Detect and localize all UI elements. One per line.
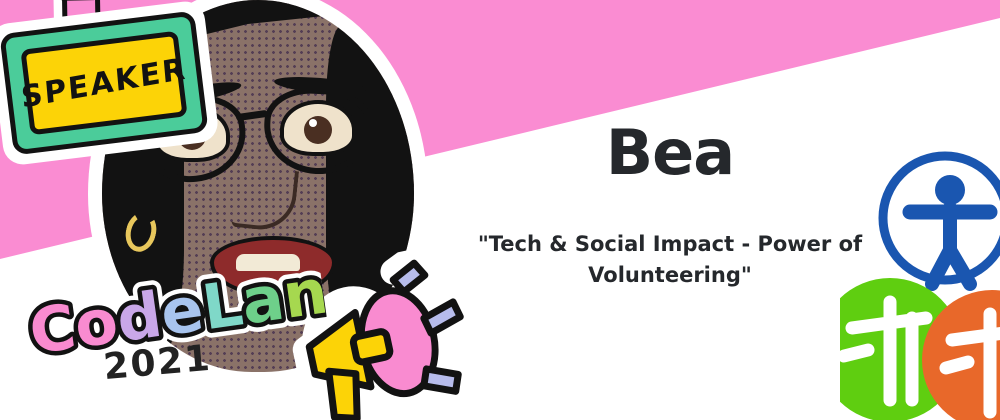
badge-frame: SPEAKER [0, 11, 209, 156]
megaphone-band [352, 331, 391, 364]
badge-card: SPEAKER [20, 31, 187, 136]
org-logos [840, 150, 1000, 420]
badge-label: SPEAKER [20, 51, 189, 115]
codeland-year: 2021 [102, 338, 213, 388]
speaker-name: Bea [470, 120, 870, 185]
accessibility-person-circle-icon [883, 156, 1000, 284]
speaker-banner: SPEAKER CodeLand [0, 0, 1000, 420]
megaphone-handle [325, 366, 365, 420]
talk-title: "Tech & Social Impact - Power of Volunte… [470, 229, 870, 290]
speaker-badge: SPEAKER [0, 11, 209, 156]
speaker-info: Bea "Tech & Social Impact - Power of Vol… [470, 120, 870, 290]
